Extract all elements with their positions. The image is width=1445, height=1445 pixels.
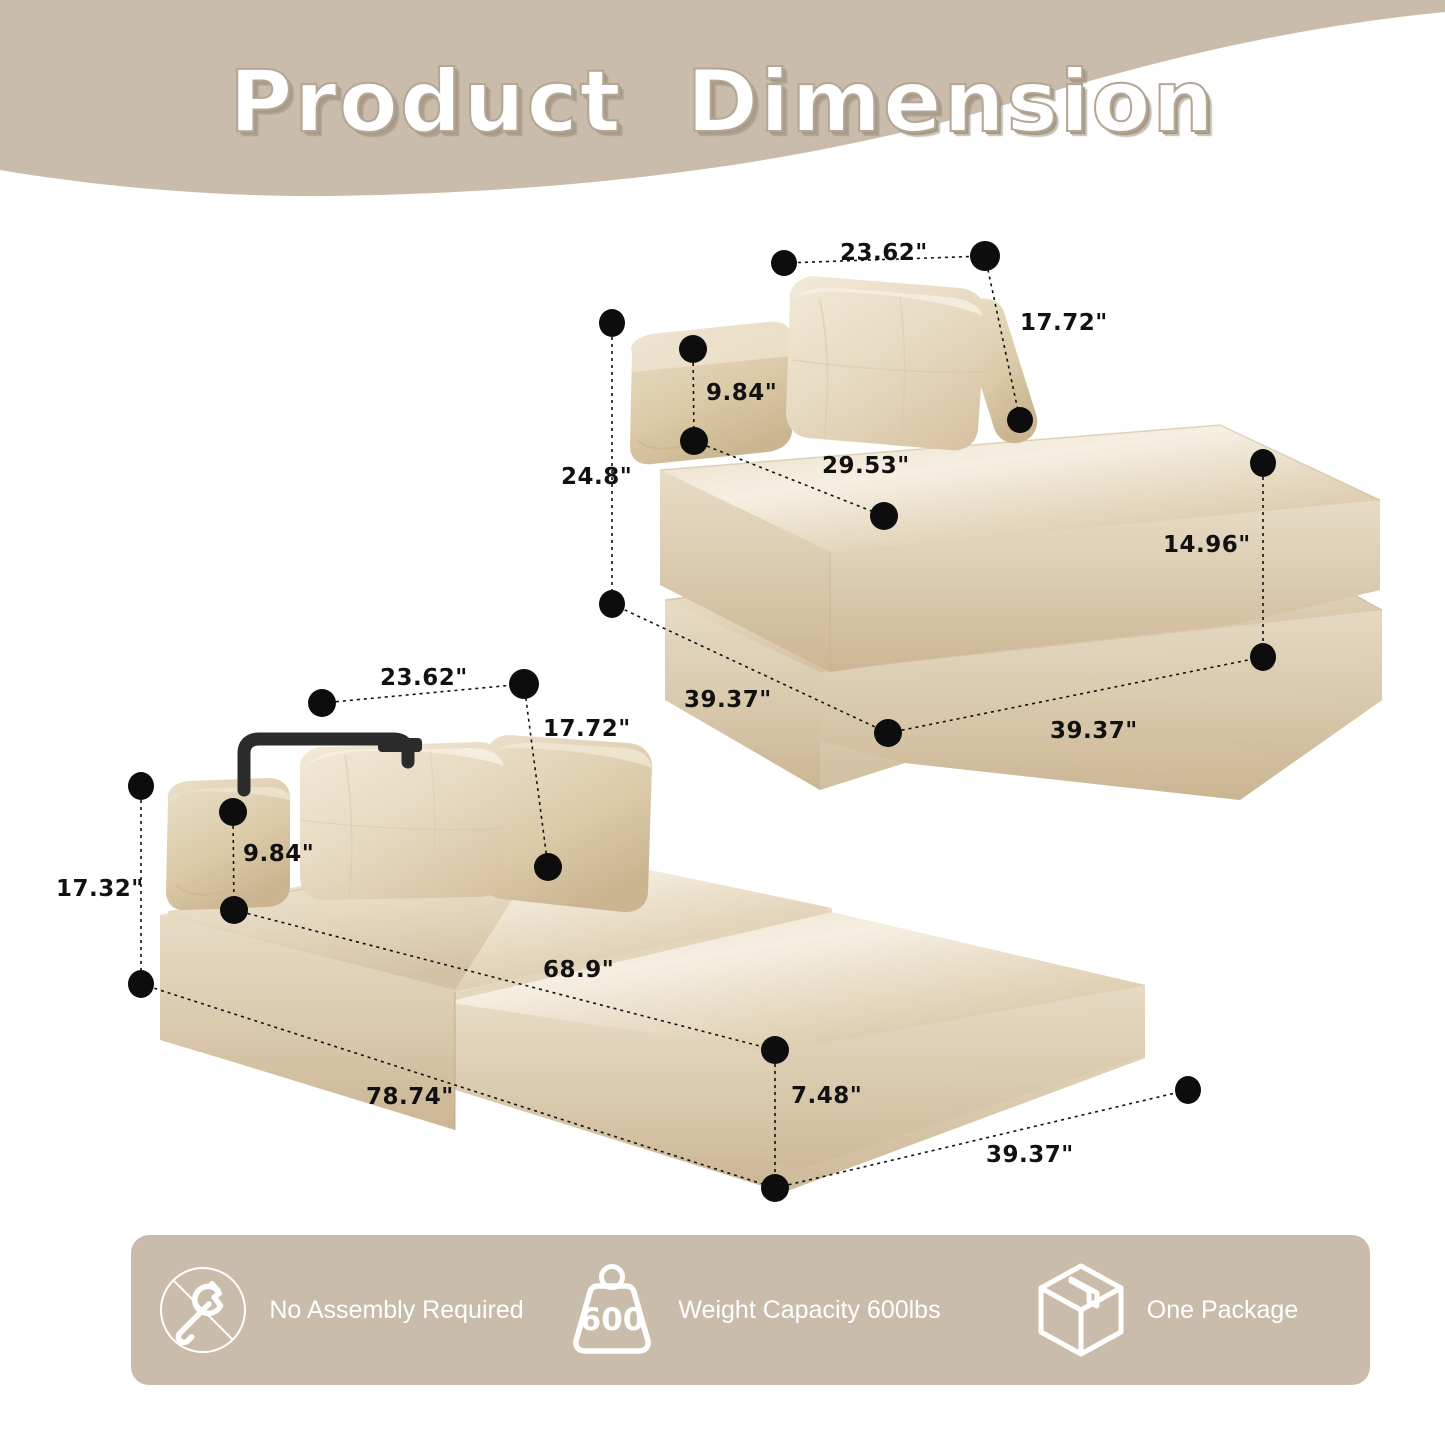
dim-label-mattress-height: 7.48": [791, 1083, 862, 1109]
feature-one-package: One Package: [957, 1258, 1370, 1362]
feature-bar: No Assembly Required 600 Weight Capacity…: [131, 1235, 1370, 1385]
product-illustrations: [0, 0, 1445, 1445]
feature-label-weight-capacity: Weight Capacity 600lbs: [678, 1296, 940, 1325]
dim-label-base-height: 14.96": [1163, 532, 1251, 558]
weight-badge-text: 600: [580, 1302, 645, 1338]
dim-label-bed-width: 39.37": [986, 1142, 1074, 1168]
dim-label-seat-width: 29.53": [822, 453, 910, 479]
dim-label-bed-overall-height: 17.32": [56, 876, 144, 902]
folded-chair-illustration: [599, 241, 1382, 800]
dim-label-armrest-height: 9.84": [706, 380, 777, 406]
dim-label-pillow-depth: 17.72": [543, 716, 631, 742]
feature-label-no-assembly: No Assembly Required: [269, 1296, 523, 1325]
dim-label-top-width: 23.62": [840, 240, 928, 266]
diagram-area: 23.62" 17.72" 9.84" 24.8" 29.53" 14.96" …: [0, 0, 1445, 1445]
dim-label-bed-armrest-height: 9.84": [243, 841, 314, 867]
feature-label-one-package: One Package: [1147, 1296, 1299, 1325]
dim-label-pillow-width: 23.62": [380, 665, 468, 691]
dim-label-overall-height: 24.8": [561, 464, 632, 490]
dim-label-top-depth: 17.72": [1020, 310, 1108, 336]
dim-label-base-depth: 39.37": [684, 687, 772, 713]
dim-label-base-width: 39.37": [1050, 718, 1138, 744]
feature-no-assembly: No Assembly Required: [131, 1258, 544, 1362]
feature-weight-capacity: 600 Weight Capacity 600lbs: [544, 1258, 957, 1362]
dim-label-bed-length-inner: 68.9": [543, 957, 614, 983]
dim-label-bed-length-full: 78.74": [366, 1084, 454, 1110]
package-box-icon: [1029, 1258, 1133, 1362]
weight-600-icon: 600: [560, 1258, 664, 1362]
no-assembly-wrench-icon: [151, 1258, 255, 1362]
